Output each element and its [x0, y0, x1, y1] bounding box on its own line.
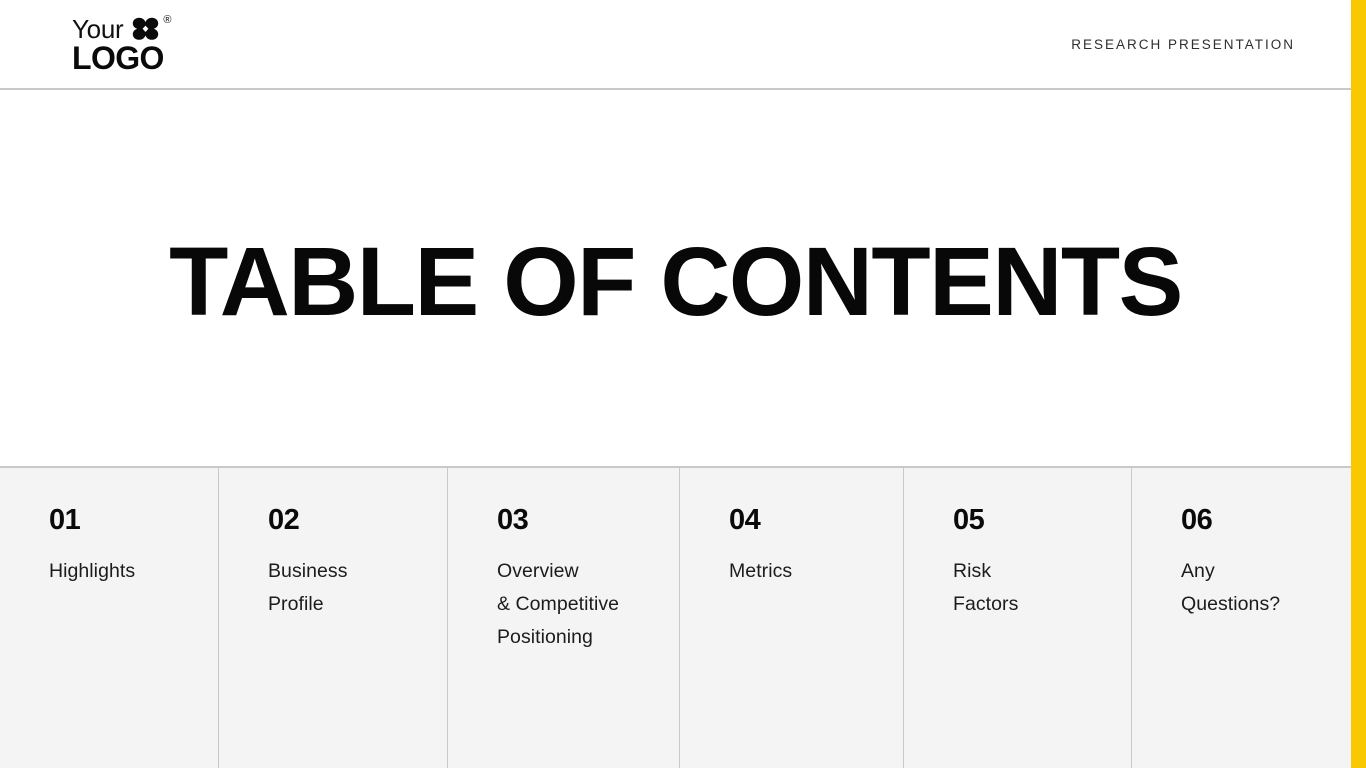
logo-your-text: Your: [72, 16, 123, 42]
logo-word-text: LOGO: [72, 43, 171, 73]
toc-item-label: Highlights: [49, 555, 202, 588]
toc-item-label: Any Questions?: [1181, 555, 1335, 621]
toc-item-01[interactable]: 01 Highlights: [0, 468, 219, 768]
toc-number: 04: [729, 506, 887, 535]
registered-trademark-icon: ®: [163, 15, 171, 26]
brand-logo[interactable]: Your ® LOGO: [72, 16, 171, 73]
clover-mark-icon: [132, 17, 160, 42]
toc-item-label: Business Profile: [268, 555, 431, 621]
logo-top-row: Your ®: [72, 16, 171, 42]
accent-bar: [1351, 0, 1366, 768]
header-eyebrow-label: RESEARCH PRESENTATION: [1071, 37, 1295, 52]
toc-item-label: Metrics: [729, 555, 887, 588]
toc-item-04[interactable]: 04 Metrics: [680, 468, 904, 768]
slide-header: Your ® LOGO RESEARCH PRESENTATION: [0, 0, 1351, 90]
toc-item-label: Overview & Competitive Positioning: [497, 555, 663, 654]
toc-item-02[interactable]: 02 Business Profile: [219, 468, 448, 768]
toc-item-06[interactable]: 06 Any Questions?: [1132, 468, 1351, 768]
toc-number: 03: [497, 506, 663, 535]
table-of-contents-grid: 01 Highlights 02 Business Profile 03 Ove…: [0, 466, 1351, 768]
toc-number: 01: [49, 506, 202, 535]
page-title: TABLE OF CONTENTS: [169, 233, 1182, 330]
hero-section: TABLE OF CONTENTS: [0, 92, 1351, 466]
presentation-slide: Your ® LOGO RESEARCH PRESENTATION TABLE …: [0, 0, 1366, 768]
toc-item-03[interactable]: 03 Overview & Competitive Positioning: [448, 468, 680, 768]
toc-number: 05: [953, 506, 1115, 535]
toc-item-label: Risk Factors: [953, 555, 1115, 621]
toc-number: 02: [268, 506, 431, 535]
toc-item-05[interactable]: 05 Risk Factors: [904, 468, 1132, 768]
toc-number: 06: [1181, 506, 1335, 535]
